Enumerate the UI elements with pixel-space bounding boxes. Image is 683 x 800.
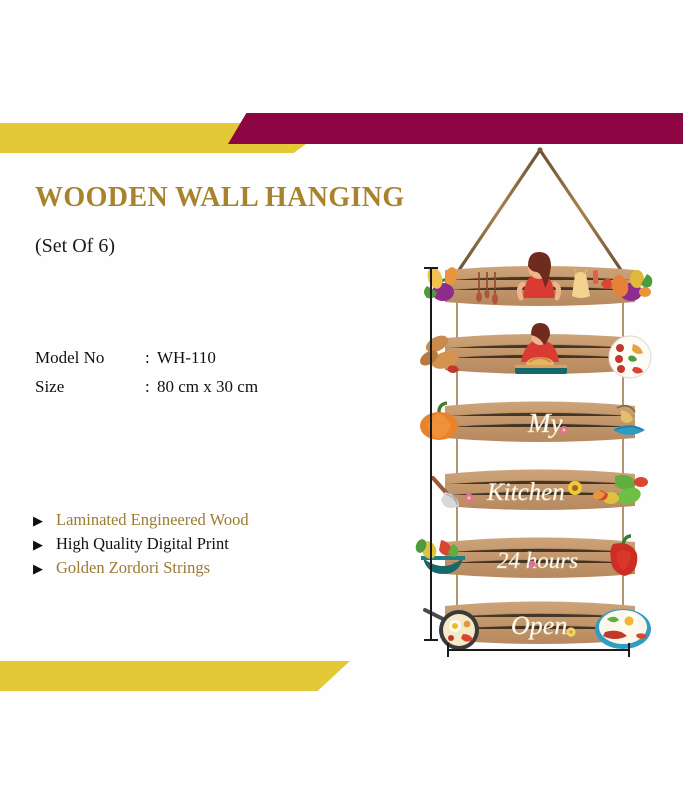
height-dimension-line [424, 268, 438, 640]
feature-label-2: High Quality Digital Print [56, 534, 229, 554]
feature-label-1: Laminated Engineered Wood [56, 510, 249, 530]
flower-motif [566, 627, 575, 636]
feature-item-1: ▶ Laminated Engineered Wood [33, 508, 249, 532]
plank-2 [417, 323, 651, 378]
spec-value-size: 80 cm x 30 cm [157, 377, 258, 397]
plank-text-my: My [527, 408, 562, 438]
features-list: ▶ Laminated Engineered Wood ▶ High Quali… [33, 508, 249, 580]
breakfast-plate-motif [595, 609, 651, 649]
spec-separator-model: : [145, 348, 157, 368]
plank-4: Kitchen [433, 470, 648, 511]
specifications-list: Model No : WH-110 Size : 80 cm x 30 cm [35, 348, 258, 406]
feature-label-3: Golden Zordori Strings [56, 558, 210, 578]
feature-item-2: ▶ High Quality Digital Print [33, 532, 249, 556]
page-subtitle: (Set Of 6) [35, 235, 115, 258]
spec-separator-size: : [145, 377, 157, 397]
spec-row-model: Model No : WH-110 [35, 348, 258, 377]
plank-5: 24 hours [415, 536, 637, 578]
plank-text-kitchen: Kitchen [486, 479, 565, 506]
triangle-right-icon: ▶ [33, 562, 48, 575]
plank-6: Open [425, 602, 651, 651]
wooden-wall-hanging-product-image: My [415, 140, 665, 660]
plank-1 [424, 252, 652, 306]
plank-text-open: Open [511, 611, 567, 640]
footer-banner [0, 655, 683, 700]
food-plate-motif [609, 336, 651, 378]
spec-label-model: Model No [35, 348, 145, 368]
spec-row-size: Size : 80 cm x 30 cm [35, 377, 258, 406]
page-title: WOODEN WALL HANGING [35, 182, 405, 214]
plank-3: My [420, 402, 645, 443]
triangle-right-icon: ▶ [33, 514, 48, 527]
plank-text-24hours: 24 hours [497, 548, 578, 573]
sunflower-motif [568, 481, 582, 495]
footer-band-yellow [0, 661, 350, 691]
feature-item-3: ▶ Golden Zordori Strings [33, 556, 249, 580]
triangle-right-icon: ▶ [33, 538, 48, 551]
spec-label-size: Size [35, 377, 145, 397]
product-spec-sheet: WOODEN WALL HANGING (Set Of 6) Model No … [0, 0, 683, 800]
spec-value-model: WH-110 [157, 348, 216, 368]
frying-pan-eggs-motif [425, 610, 479, 650]
